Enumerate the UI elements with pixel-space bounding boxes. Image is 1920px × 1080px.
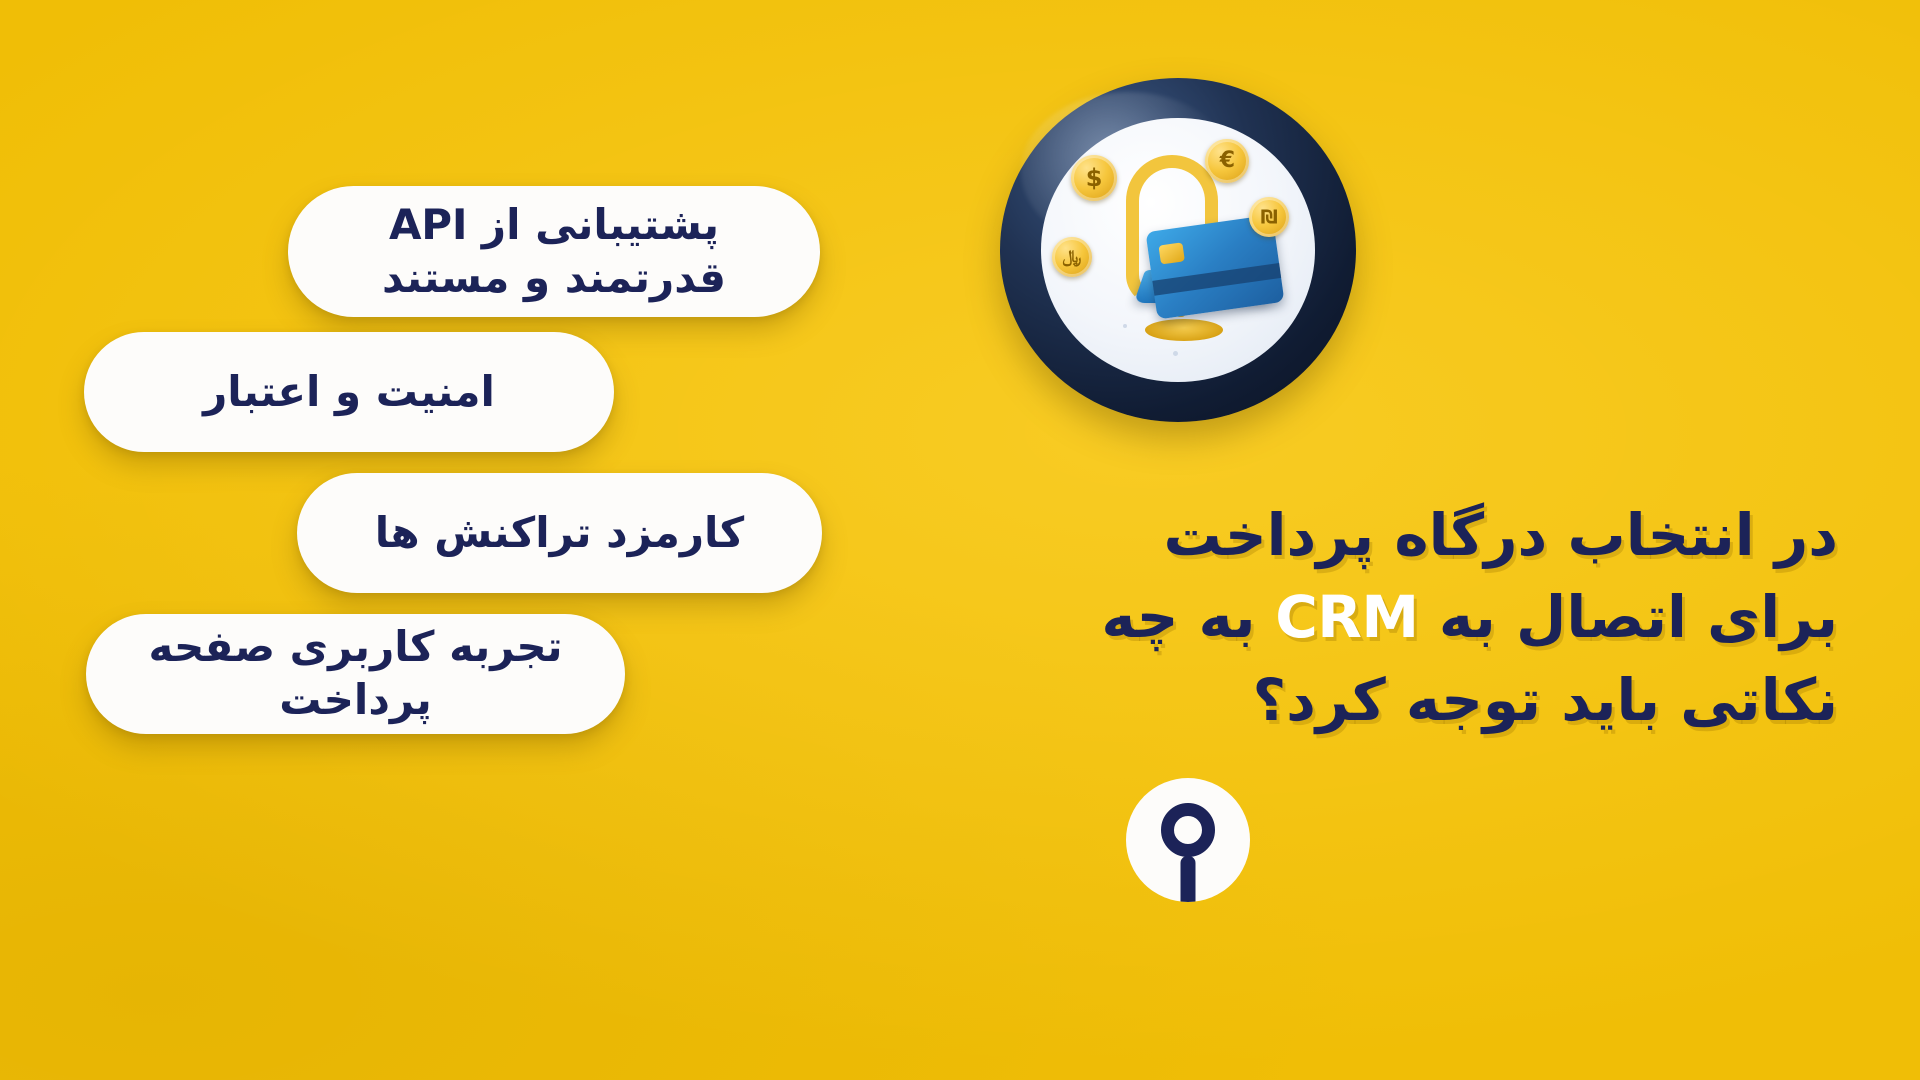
headline-line-2-before: برای اتصال به: [1419, 583, 1838, 651]
feature-pill[interactable]: پشتیبانی از API قدرتمند و مستند: [288, 186, 820, 317]
card-chip-icon: [1158, 243, 1184, 265]
logo-ring-shape: [1161, 803, 1215, 857]
coin-symbol: €: [1220, 148, 1235, 173]
page-title: در انتخاب درگاه پرداخت برای اتصال به CRM…: [1138, 494, 1838, 741]
headline-accent-crm: CRM: [1275, 583, 1418, 651]
headline-line-2-after: به چه: [1101, 583, 1275, 651]
illustration-inner-disc: $ € ₪ ﷼: [1041, 118, 1315, 383]
coin-euro-icon: €: [1205, 139, 1249, 183]
feature-pill-label: تجربه کاربری صفحه پرداخت: [86, 621, 625, 727]
coin-symbol: ﷼: [1062, 247, 1081, 267]
coin-dollar-icon: $: [1071, 155, 1117, 201]
sparkle-icon: [1173, 351, 1178, 356]
headline-line-1: در انتخاب درگاه پرداخت: [1138, 494, 1838, 576]
feature-pill[interactable]: امنیت و اعتبار: [84, 332, 614, 452]
coin-shekel-icon: ₪: [1249, 197, 1289, 237]
sparkle-icon: [1123, 324, 1127, 328]
feature-pill-label: امنیت و اعتبار: [165, 366, 533, 419]
gateway-hook-base: [1145, 319, 1223, 341]
logo-stem-shape: [1181, 856, 1196, 902]
coin-symbol: ₪: [1261, 206, 1278, 228]
coin-symbol: $: [1086, 164, 1103, 192]
brand-logo-mark: [1126, 778, 1250, 902]
payment-gateway-illustration: $ € ₪ ﷼: [1000, 78, 1356, 422]
headline-line-3: نکاتی باید توجه کرد؟: [1138, 659, 1838, 741]
feature-pill[interactable]: تجربه کاربری صفحه پرداخت: [86, 614, 625, 734]
headline-line-2: برای اتصال به CRM به چه: [1138, 576, 1838, 658]
feature-pill-label: پشتیبانی از API قدرتمند و مستند: [344, 199, 764, 305]
card-stripe: [1152, 264, 1281, 297]
feature-pill[interactable]: کارمزد تراکنش ها: [297, 473, 822, 593]
feature-pill-label: کارمزد تراکنش ها: [337, 507, 782, 560]
coin-rial-icon: ﷼: [1052, 237, 1092, 277]
poster-canvas: پشتیبانی از API قدرتمند و مستند امنیت و …: [0, 0, 1920, 1080]
